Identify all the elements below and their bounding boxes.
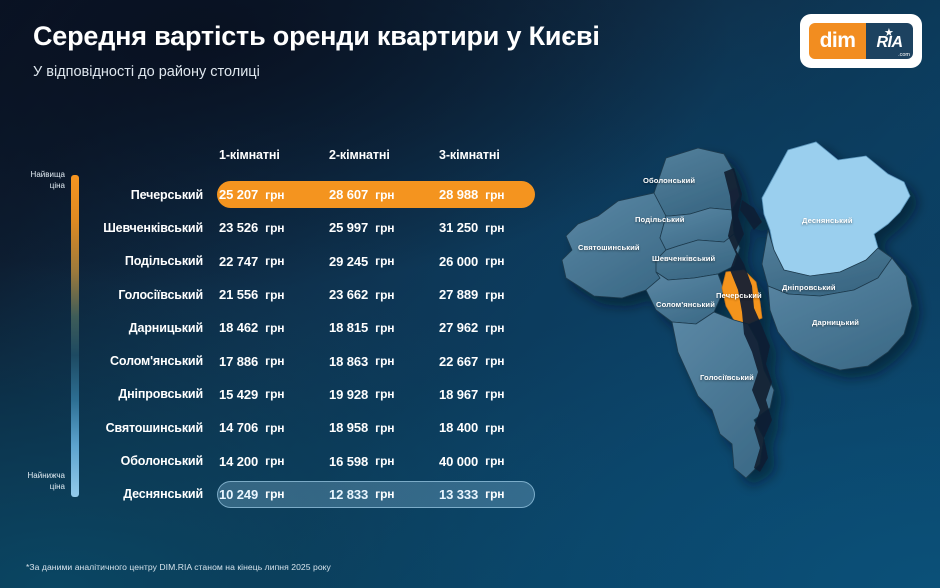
price-value: 18 863	[329, 354, 368, 369]
price-unit: грн	[265, 354, 284, 368]
row-cells: 14 200грн16 598грн40 000грн	[217, 444, 547, 477]
row-district-name: Печерський	[100, 178, 212, 211]
price-value: 19 928	[329, 387, 368, 402]
price-cell-2room: 28 607грн	[329, 178, 433, 211]
table-row[interactable]: Святошинський14 706грн18 958грн18 400грн	[100, 411, 545, 444]
price-unit: грн	[265, 254, 284, 268]
row-district-name: Оболонський	[100, 444, 212, 477]
dim-ria-logo[interactable]: dim ★ RIA .com	[800, 14, 922, 68]
map-label: Шевченківський	[652, 254, 715, 263]
map-label: Солом'янський	[656, 300, 715, 309]
price-cell-3room: 27 962грн	[439, 311, 543, 344]
price-value: 10 249	[219, 487, 258, 502]
price-unit: грн	[485, 321, 504, 335]
legend-highest-line1: Найвища	[3, 170, 65, 181]
price-cell-2room: 18 863грн	[329, 344, 433, 377]
row-cells: 25 207грн28 607грн28 988грн	[217, 178, 547, 211]
header: Середня вартість оренди квартири у Києві…	[33, 20, 600, 80]
map-label: Дніпровський	[782, 283, 836, 292]
price-unit: грн	[485, 221, 504, 235]
price-unit: грн	[485, 387, 504, 401]
kyiv-districts-map: ОболонськийПодільськийСвятошинськийШевче…	[548, 138, 940, 538]
table-header-row: 1-кімнатні 2-кімнатні 3-кімнатні	[100, 148, 545, 178]
map-label: Голосіївський	[700, 373, 754, 382]
price-cell-2room: 29 245грн	[329, 245, 433, 278]
dnipro-river-branch	[740, 200, 762, 230]
map-svg	[548, 138, 940, 538]
price-cell-1room: 15 429грн	[219, 378, 323, 411]
table-body: Печерський25 207грн28 607грн28 988грнШев…	[100, 178, 545, 511]
price-cell-1room: 14 706грн	[219, 411, 323, 444]
price-unit: грн	[375, 354, 394, 368]
table-row[interactable]: Подільський22 747грн29 245грн26 000грн	[100, 245, 545, 278]
row-district-name: Голосіївський	[100, 278, 212, 311]
price-unit: грн	[375, 254, 394, 268]
price-value: 13 333	[439, 487, 478, 502]
price-unit: грн	[265, 321, 284, 335]
price-cell-3room: 28 988грн	[439, 178, 543, 211]
price-value: 18 462	[219, 320, 258, 335]
map-label: Деснянський	[802, 216, 853, 225]
page-title: Середня вартість оренди квартири у Києві	[33, 20, 600, 52]
rent-price-table: 1-кімнатні 2-кімнатні 3-кімнатні Печерсь…	[100, 148, 545, 511]
row-district-name: Деснянський	[100, 478, 212, 511]
row-district-name: Шевченківський	[100, 211, 212, 244]
price-cell-1room: 10 249грн	[219, 478, 323, 511]
price-cell-1room: 18 462грн	[219, 311, 323, 344]
price-value: 27 962	[439, 320, 478, 335]
logo-inner: dim ★ RIA .com	[809, 23, 913, 59]
map-label: Подільський	[635, 215, 685, 224]
table-row[interactable]: Шевченківський23 526грн25 997грн31 250гр…	[100, 211, 545, 244]
price-unit: грн	[375, 387, 394, 401]
price-value: 27 889	[439, 287, 478, 302]
table-row[interactable]: Голосіївський21 556грн23 662грн27 889грн	[100, 278, 545, 311]
price-cell-2room: 25 997грн	[329, 211, 433, 244]
price-unit: грн	[265, 188, 284, 202]
price-cell-1room: 17 886грн	[219, 344, 323, 377]
price-unit: грн	[375, 221, 394, 235]
row-cells: 10 249грн12 833грн13 333грн	[217, 478, 547, 511]
table-row[interactable]: Оболонський14 200грн16 598грн40 000грн	[100, 444, 545, 477]
price-unit: грн	[375, 421, 394, 435]
price-unit: грн	[265, 421, 284, 435]
price-value: 22 747	[219, 254, 258, 269]
price-unit: грн	[485, 354, 504, 368]
price-value: 18 400	[439, 420, 478, 435]
legend-gradient-bar	[71, 175, 79, 497]
price-value: 29 245	[329, 254, 368, 269]
price-value: 23 526	[219, 220, 258, 235]
price-cell-3room: 31 250грн	[439, 211, 543, 244]
map-shape-group	[562, 142, 912, 478]
map-label: Дарницький	[812, 318, 859, 327]
price-unit: грн	[375, 487, 394, 501]
row-district-name: Солом'янський	[100, 344, 212, 377]
price-value: 21 556	[219, 287, 258, 302]
price-value: 18 815	[329, 320, 368, 335]
table-row[interactable]: Солом'янський17 886грн18 863грн22 667грн	[100, 344, 545, 377]
price-unit: грн	[265, 221, 284, 235]
column-header-3room: 3-кімнатні	[439, 148, 500, 162]
price-unit: грн	[485, 421, 504, 435]
price-value: 22 667	[439, 354, 478, 369]
price-value: 25 207	[219, 187, 258, 202]
price-value: 25 997	[329, 220, 368, 235]
price-unit: грн	[375, 321, 394, 335]
price-cell-3room: 13 333грн	[439, 478, 543, 511]
price-cell-1room: 21 556грн	[219, 278, 323, 311]
price-value: 16 598	[329, 454, 368, 469]
price-unit: грн	[375, 288, 394, 302]
price-unit: грн	[485, 288, 504, 302]
table-row[interactable]: Дарницький18 462грн18 815грн27 962грн	[100, 311, 545, 344]
row-cells: 17 886грн18 863грн22 667грн	[217, 344, 547, 377]
legend-highest-label: Найвища ціна	[3, 170, 65, 192]
price-legend: Найвища ціна Найнижча ціна	[0, 168, 90, 508]
row-cells: 22 747грн29 245грн26 000грн	[217, 245, 547, 278]
price-value: 26 000	[439, 254, 478, 269]
price-cell-1room: 23 526грн	[219, 211, 323, 244]
price-cell-1room: 14 200грн	[219, 444, 323, 477]
price-cell-2room: 16 598грн	[329, 444, 433, 477]
price-value: 28 607	[329, 187, 368, 202]
price-value: 14 200	[219, 454, 258, 469]
legend-highest-line2: ціна	[3, 181, 65, 192]
table-row[interactable]: Печерський25 207грн28 607грн28 988грн	[100, 178, 545, 211]
table-row[interactable]: Дніпровський15 429грн19 928грн18 967грн	[100, 378, 545, 411]
logo-ria-block: ★ RIA .com	[866, 23, 913, 59]
price-value: 14 706	[219, 420, 258, 435]
price-cell-1room: 22 747грн	[219, 245, 323, 278]
star-icon: ★	[884, 26, 894, 39]
price-unit: грн	[265, 387, 284, 401]
row-cells: 21 556грн23 662грн27 889грн	[217, 278, 547, 311]
price-value: 12 833	[329, 487, 368, 502]
price-value: 18 967	[439, 387, 478, 402]
price-cell-2room: 23 662грн	[329, 278, 433, 311]
row-district-name: Святошинський	[100, 411, 212, 444]
price-value: 15 429	[219, 387, 258, 402]
price-cell-3room: 22 667грн	[439, 344, 543, 377]
map-label: Святошинський	[578, 243, 640, 252]
legend-lowest-label: Найнижча ціна	[3, 471, 65, 493]
legend-lowest-line2: ціна	[3, 482, 65, 493]
price-cell-2room: 12 833грн	[329, 478, 433, 511]
row-district-name: Подільський	[100, 245, 212, 278]
row-cells: 23 526грн25 997грн31 250грн	[217, 211, 547, 244]
price-value: 28 988	[439, 187, 478, 202]
price-unit: грн	[265, 288, 284, 302]
map-label: Печерський	[716, 291, 762, 300]
price-cell-2room: 19 928грн	[329, 378, 433, 411]
price-cell-1room: 25 207грн	[219, 178, 323, 211]
price-cell-3room: 18 400грн	[439, 411, 543, 444]
page-subtitle: У відповідності до району столиці	[33, 64, 600, 80]
column-header-1room: 1-кімнатні	[219, 148, 280, 162]
column-header-2room: 2-кімнатні	[329, 148, 390, 162]
price-value: 23 662	[329, 287, 368, 302]
price-unit: грн	[485, 454, 504, 468]
price-cell-3room: 40 000грн	[439, 444, 543, 477]
price-unit: грн	[375, 454, 394, 468]
price-unit: грн	[265, 454, 284, 468]
row-district-name: Дарницький	[100, 311, 212, 344]
price-value: 31 250	[439, 220, 478, 235]
row-cells: 18 462грн18 815грн27 962грн	[217, 311, 547, 344]
price-unit: грн	[485, 254, 504, 268]
price-value: 17 886	[219, 354, 258, 369]
row-cells: 14 706грн18 958грн18 400грн	[217, 411, 547, 444]
footnote: *За даними аналітичного центру DIM.RIA с…	[26, 562, 331, 572]
legend-lowest-line1: Найнижча	[3, 471, 65, 482]
table-row[interactable]: Деснянський10 249грн12 833грн13 333грн	[100, 478, 545, 511]
row-cells: 15 429грн19 928грн18 967грн	[217, 378, 547, 411]
price-unit: грн	[375, 188, 394, 202]
price-cell-3room: 18 967грн	[439, 378, 543, 411]
price-value: 40 000	[439, 454, 478, 469]
price-unit: грн	[265, 487, 284, 501]
price-unit: грн	[485, 487, 504, 501]
price-unit: грн	[485, 188, 504, 202]
price-cell-3room: 27 889грн	[439, 278, 543, 311]
map-label: Оболонський	[643, 176, 695, 185]
logo-dim-text: dim	[809, 23, 866, 59]
price-value: 18 958	[329, 420, 368, 435]
row-district-name: Дніпровський	[100, 378, 212, 411]
price-cell-2room: 18 958грн	[329, 411, 433, 444]
price-cell-2room: 18 815грн	[329, 311, 433, 344]
logo-tld-text: .com	[898, 52, 910, 58]
price-cell-3room: 26 000грн	[439, 245, 543, 278]
